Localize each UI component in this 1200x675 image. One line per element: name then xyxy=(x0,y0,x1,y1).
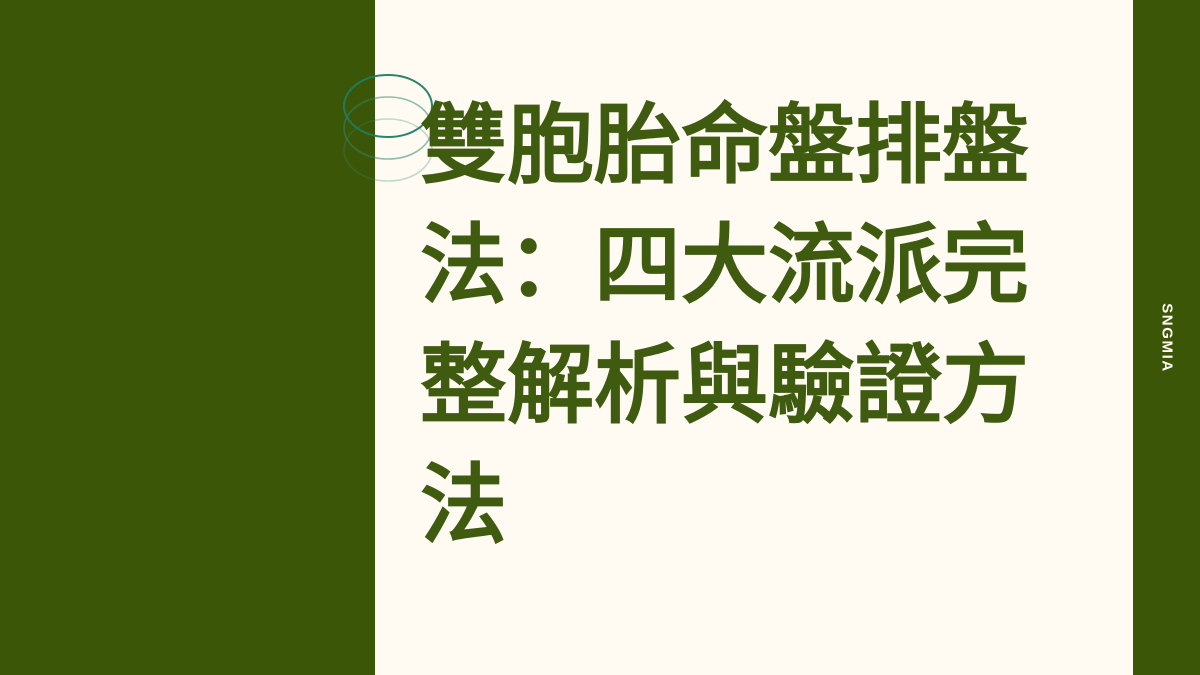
main-content-area: 雙胞胎命盤排盤法：四大流派完整解析與驗證方法 xyxy=(375,0,1133,675)
slide-canvas: 入門教學 從零開始學習紫微斗數，排盤技巧與解盤方法完整教學 雙胞胎命盤排盤法：四… xyxy=(0,0,1200,675)
article-headline: 雙胞胎命盤排盤法：四大流派完整解析與驗證方法 xyxy=(420,86,1100,566)
brand-wordmark: SNGMIA xyxy=(1158,303,1175,373)
left-green-panel xyxy=(0,0,375,675)
right-green-strip: SNGMIA xyxy=(1133,0,1200,675)
